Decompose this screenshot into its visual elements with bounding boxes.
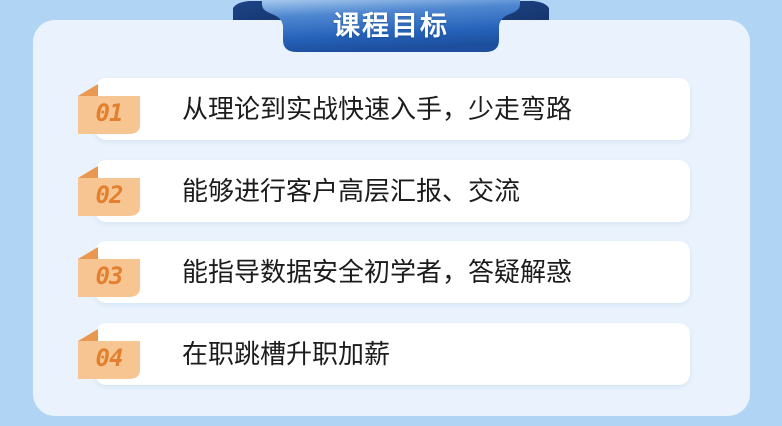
goal-number-badge: 01	[78, 84, 144, 134]
goal-row[interactable]: 能够进行客户高层汇报、交流 02	[95, 160, 690, 222]
goal-row-label: 能够进行客户高层汇报、交流	[182, 160, 520, 222]
goal-row-label: 能指导数据安全初学者，答疑解惑	[182, 241, 572, 303]
goal-number-badge: 02	[78, 166, 144, 216]
goal-number-badge: 04	[78, 329, 144, 379]
badge-tag-shape	[78, 329, 144, 379]
slide-root: 课程目标 从理论到实战快速入手，少走弯路 01 能够进行客户高层汇报、交流 02	[0, 0, 782, 426]
goal-row[interactable]: 在职跳槽升职加薪 04	[95, 323, 690, 385]
section-header-ribbon: 课程目标	[233, 0, 549, 56]
goal-number-badge: 03	[78, 247, 144, 297]
badge-tag-shape	[78, 166, 144, 216]
goal-row-label: 在职跳槽升职加薪	[182, 323, 390, 385]
badge-tag-shape	[78, 247, 144, 297]
goal-row[interactable]: 从理论到实战快速入手，少走弯路 01	[95, 78, 690, 140]
ribbon-shape	[233, 0, 549, 56]
goal-row-label: 从理论到实战快速入手，少走弯路	[182, 78, 572, 140]
badge-tag-shape	[78, 84, 144, 134]
ribbon-body	[262, 0, 520, 52]
goal-row[interactable]: 能指导数据安全初学者，答疑解惑 03	[95, 241, 690, 303]
